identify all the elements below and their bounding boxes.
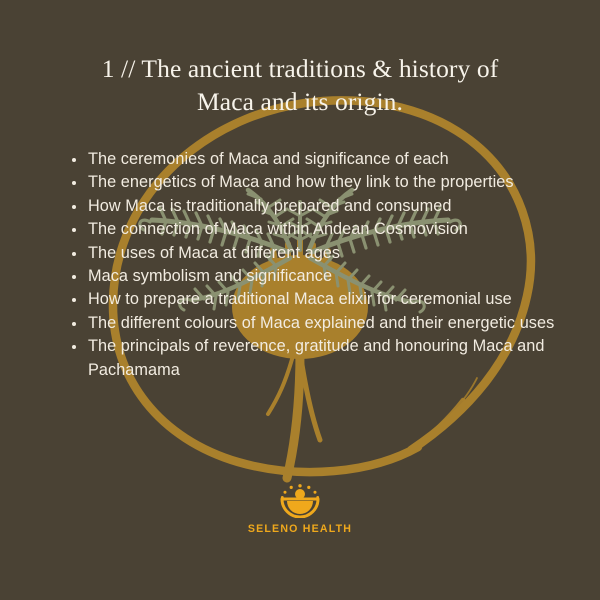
title-line-1: 1 // The ancient traditions & history of — [50, 52, 550, 85]
list-item-label: How Maca is traditionally prepared and c… — [88, 197, 451, 215]
list-item: The energetics of Maca and how they link… — [68, 171, 560, 194]
list-item: The different colours of Maca explained … — [68, 312, 560, 335]
list-item-label: The different colours of Maca explained … — [88, 314, 554, 332]
list-item: Maca symbolism and significance — [68, 265, 560, 288]
list-item: How Maca is traditionally prepared and c… — [68, 195, 560, 218]
list-item: How to prepare a traditional Maca elixir… — [68, 288, 560, 311]
title-line-2: Maca and its origin. — [50, 85, 550, 118]
list-item-label: The uses of Maca at different ages — [88, 244, 340, 262]
seleno-sun-bowl-logo-icon — [278, 484, 322, 518]
slide-canvas: 1 // The ancient traditions & history of… — [0, 0, 600, 600]
list-item-label: Maca symbolism and significance — [88, 267, 332, 285]
brand-logo: SELENO HEALTH — [0, 484, 600, 535]
list-item-label: The principals of reverence, gratitude a… — [88, 337, 545, 378]
list-item-label: How to prepare a traditional Maca elixir… — [88, 290, 512, 308]
list-item-label: The connection of Maca within Andean Cos… — [88, 220, 468, 238]
list-item-label: The ceremonies of Maca and significance … — [88, 150, 449, 168]
page-title: 1 // The ancient traditions & history of… — [50, 52, 550, 118]
list-item: The connection of Maca within Andean Cos… — [68, 218, 560, 241]
topics-list: The ceremonies of Maca and significance … — [68, 148, 560, 382]
list-item: The principals of reverence, gratitude a… — [68, 335, 560, 382]
list-item: The uses of Maca at different ages — [68, 242, 560, 265]
brand-name: SELENO HEALTH — [0, 523, 600, 535]
list-item: The ceremonies of Maca and significance … — [68, 148, 560, 171]
list-item-label: The energetics of Maca and how they link… — [88, 173, 514, 191]
